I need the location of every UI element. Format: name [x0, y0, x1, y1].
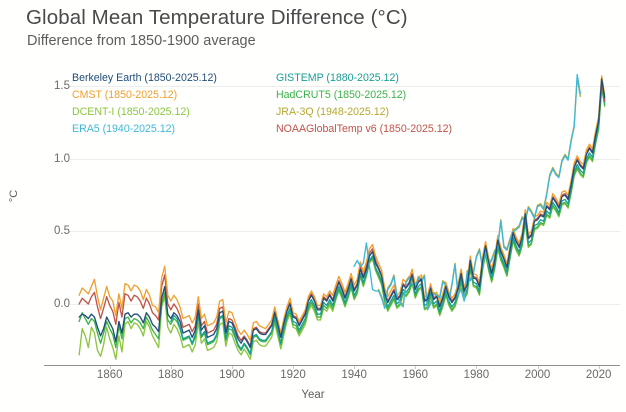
legend-item-hadcrut5[interactable]: HadCRUT5 (1850-2025.12): [276, 89, 406, 101]
legend-item-gistemp[interactable]: GISTEMP (1880-2025.12): [276, 72, 399, 84]
legend-item-jra3q[interactable]: JRA-3Q (1948-2025.12): [276, 106, 389, 118]
series-line-jra3q: [379, 77, 581, 308]
temperature-chart: Global Mean Temperature Difference (°C) …: [0, 0, 626, 412]
legend-item-noaa[interactable]: NOAAGlobalTemp v6 (1850-2025.12): [276, 123, 452, 135]
legend-item-berkeley[interactable]: Berkeley Earth (1850-2025.12): [72, 72, 217, 84]
plot-area: [0, 0, 626, 412]
legend-item-dcent[interactable]: DCENT-I (1850-2025.12): [72, 106, 190, 118]
legend-item-era5[interactable]: ERA5 (1940-2025.12): [72, 123, 175, 135]
legend-item-cmst[interactable]: CMST (1850-2025.12): [72, 89, 177, 101]
